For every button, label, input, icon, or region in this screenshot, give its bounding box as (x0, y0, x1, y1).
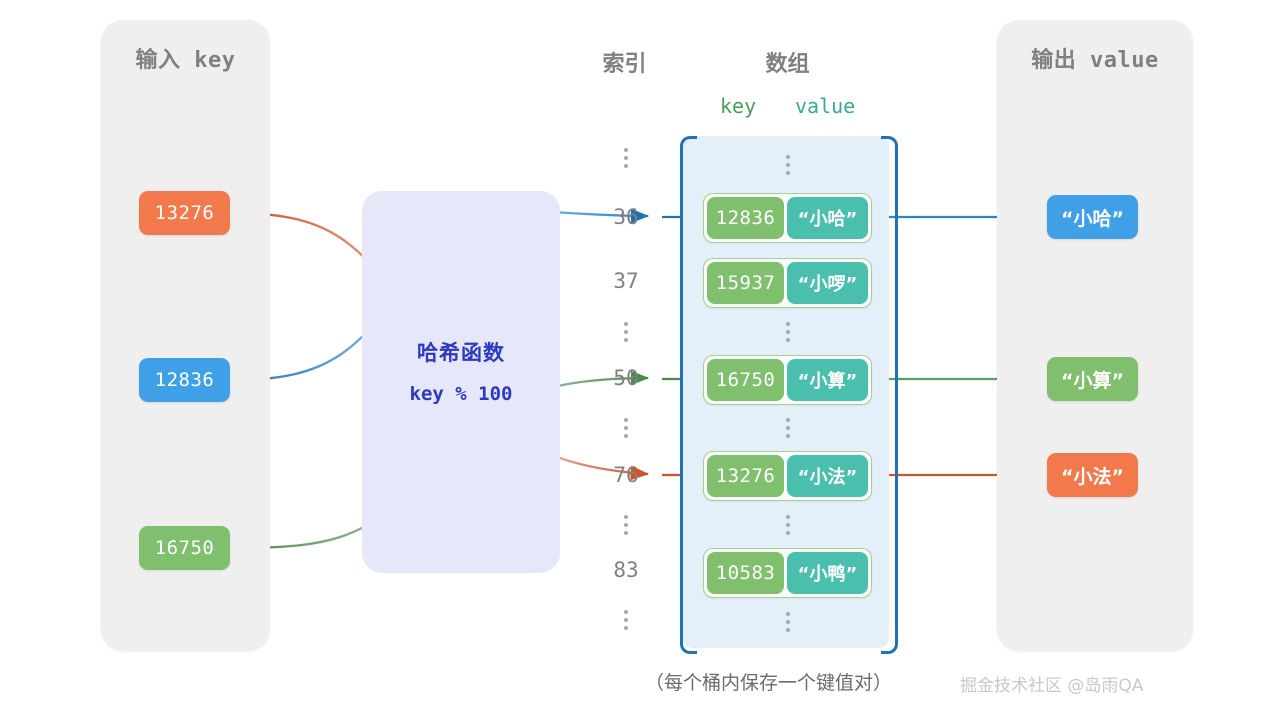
bucket-76-key: 13276 (707, 455, 784, 497)
output-value-xiaosuan[interactable]: “小算” (1047, 357, 1138, 401)
array-ellipsis-bottom (784, 612, 792, 632)
array-ellipsis-3 (784, 418, 792, 438)
bucket-37-key: 15937 (707, 262, 784, 304)
index-ellipsis-4 (622, 515, 630, 535)
bucket-36-key: 12836 (707, 197, 784, 239)
bucket-36-value: “小哈” (787, 197, 868, 239)
array-column-header: 数组 (700, 46, 875, 78)
bucket-value-header: value (795, 94, 855, 118)
index-76: 76 (586, 463, 666, 487)
index-83: 83 (586, 558, 666, 582)
input-key-16750[interactable]: 16750 (139, 526, 230, 570)
diagram-caption: （每个桶内保存一个键值对） (645, 668, 892, 695)
bucket-36[interactable]: 12836 “小哈” (703, 193, 872, 243)
input-panel-title: 输入 key (101, 42, 270, 74)
array-ellipsis-2 (784, 322, 792, 342)
hash-function-box[interactable]: 哈希函数 key % 100 (362, 191, 560, 573)
hash-function-formula: key % 100 (362, 383, 560, 405)
watermark-text: 掘金技术社区 @岛雨QA (960, 671, 1143, 696)
bucket-37-value: “小啰” (787, 262, 868, 304)
bucket-83[interactable]: 10583 “小鸭” (703, 548, 872, 598)
bucket-50[interactable]: 16750 “小算” (703, 355, 872, 405)
index-36: 36 (586, 205, 666, 229)
bucket-50-value: “小算” (787, 359, 868, 401)
input-key-13276[interactable]: 13276 (139, 191, 230, 235)
bucket-76[interactable]: 13276 “小法” (703, 451, 872, 501)
array-right-bracket (881, 136, 898, 654)
array-ellipsis-top (784, 155, 792, 175)
index-ellipsis-2 (622, 322, 630, 342)
bucket-37[interactable]: 15937 “小啰” (703, 258, 872, 308)
hash-function-title: 哈希函数 (362, 337, 560, 367)
index-ellipsis-3 (622, 418, 630, 438)
index-ellipsis-bottom (622, 610, 630, 630)
input-key-12836[interactable]: 12836 (139, 358, 230, 402)
index-column-header: 索引 (572, 46, 677, 78)
bucket-76-value: “小法” (787, 455, 868, 497)
bucket-83-value: “小鸭” (787, 552, 868, 594)
array-ellipsis-4 (784, 515, 792, 535)
index-50: 50 (586, 366, 666, 390)
bucket-key-header: key (720, 94, 756, 118)
bucket-50-key: 16750 (707, 359, 784, 401)
bucket-83-key: 10583 (707, 552, 784, 594)
output-value-panel (997, 20, 1193, 651)
output-value-xiaofa[interactable]: “小法” (1047, 453, 1138, 497)
diagram-canvas: 输入 key 13276 12836 16750 哈希函数 key % 100 … (0, 0, 1280, 720)
index-37: 37 (586, 269, 666, 293)
index-ellipsis-top (622, 148, 630, 168)
output-value-xiaoha[interactable]: “小哈” (1047, 195, 1138, 239)
array-left-bracket (680, 136, 697, 654)
output-panel-title: 输出 value (997, 42, 1193, 74)
